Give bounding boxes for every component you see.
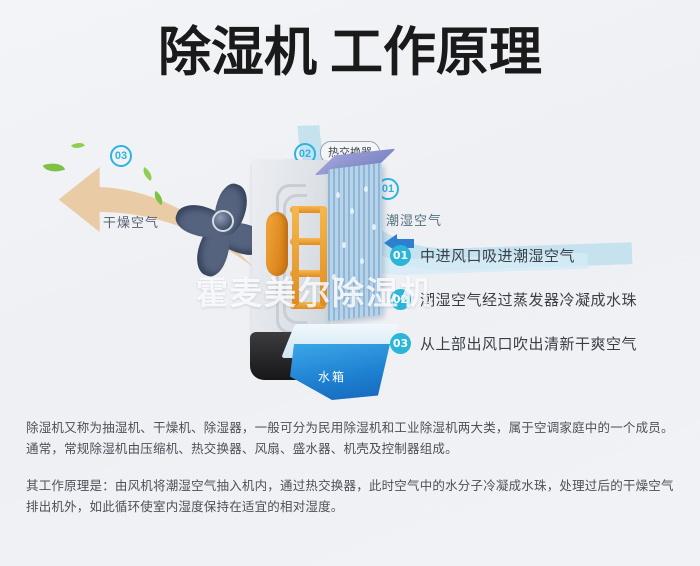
page-title-part2: 工作原理 (330, 22, 542, 83)
refrigerant-tube (292, 206, 299, 306)
step-badge-03: 03 (390, 333, 411, 354)
paragraph-1-line-1: 除湿机又称为抽湿机、干燥机、除湿器，一般可分为民用除湿机和工业除湿机两大类，属于… (26, 418, 674, 439)
water-tank-label: 水箱 (318, 368, 346, 385)
diagram-badge-03: 03 (110, 145, 132, 167)
page-title-part1: 除湿机 (158, 22, 317, 83)
step-badge-01: 01 (390, 245, 411, 266)
paragraph-2: 其工作原理是：由风机将潮湿空气抽入机内，通过热交换器，此时空气中的水分子冷凝成水… (26, 476, 674, 518)
list-item: 02 潮湿空气经过蒸发器冷凝成水珠 (390, 289, 690, 310)
compressor (266, 212, 288, 276)
list-item: 03 从上部出风口吹出清新干爽空气 (390, 333, 690, 354)
leaf-icon (71, 139, 85, 151)
dry-air-label: 干燥空气 (103, 212, 159, 231)
paragraph-1-line-2: 通常，常规除湿机由压缩机、热交换器、风扇、盛水器、机壳及控制器组成。 (26, 439, 674, 460)
list-item: 01 中进风口吸进潮湿空气 (390, 245, 690, 266)
refrigerant-tube (320, 206, 327, 306)
paragraph-2-line-1: 其工作原理是：由风机将潮湿空气抽入机内，通过热交换器，此时空气中的水分子冷凝成水… (26, 476, 674, 497)
paragraph-2-line-2: 排出机外，如此循环使室内湿度保持在适宜的相对湿度。 (26, 497, 674, 518)
step-badge-02: 02 (390, 289, 411, 310)
infographic-page: 除湿机工作原理 干燥空气 潮湿空气 03 02 01 热交换器 (0, 0, 700, 566)
machine-chassis (252, 160, 330, 345)
step-text-01: 中进风口吸进潮湿空气 (420, 245, 575, 266)
step-text-02: 潮湿空气经过蒸发器冷凝成水珠 (420, 289, 637, 310)
page-title: 除湿机工作原理 (0, 26, 700, 79)
steps-list: 01 中进风口吸进潮湿空气 02 潮湿空气经过蒸发器冷凝成水珠 03 从上部出风… (390, 245, 690, 377)
step-text-03: 从上部出风口吹出清新干爽空气 (420, 333, 637, 354)
paragraph-1: 除湿机又称为抽湿机、干燥机、除湿器，一般可分为民用除湿机和工业除湿机两大类，属于… (26, 418, 674, 460)
body-copy: 除湿机又称为抽湿机、干燥机、除湿器，一般可分为民用除湿机和工业除湿机两大类，属于… (26, 418, 674, 534)
evaporator-fins (328, 163, 382, 322)
